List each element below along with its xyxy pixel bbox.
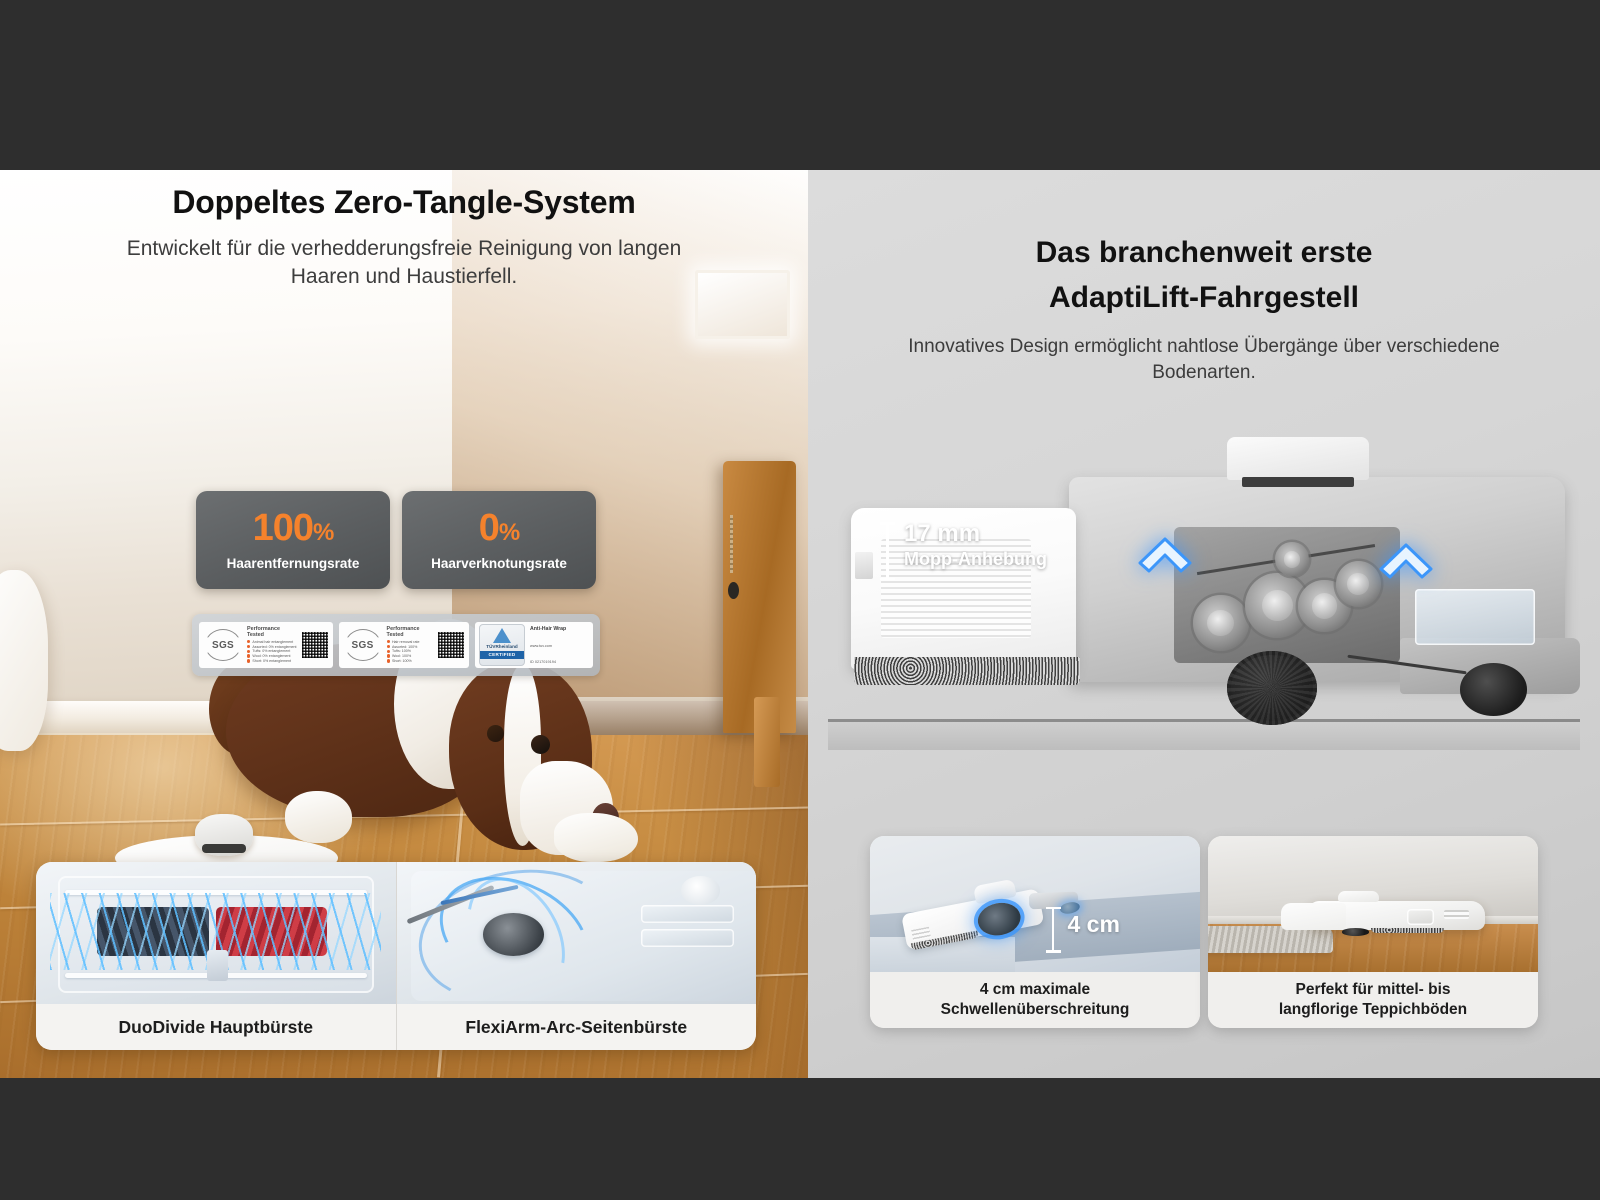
check-dot-icon bbox=[247, 640, 250, 643]
feature-card-threshold[interactable]: 4 cm 4 cm maximale Schwellenüberschreitu… bbox=[870, 836, 1200, 1028]
tuv-name: TÜVRheinland bbox=[486, 644, 517, 649]
sgs-logo-icon: SGS bbox=[204, 628, 242, 662]
robot-lidar-window bbox=[202, 844, 246, 852]
check-dot-icon bbox=[387, 659, 390, 662]
certification-badge-sgs-removal: SGS Performance Tested Hair removal rate… bbox=[339, 622, 469, 668]
sgs-list-item: Hair removal rate bbox=[387, 640, 433, 644]
stat-unit: % bbox=[313, 519, 333, 546]
certification-badge-tuv: TÜVRheinland CERTIFIED Anti-Hair Wrap ww… bbox=[475, 622, 593, 668]
sgs-item-text: Short: 100% bbox=[392, 659, 412, 663]
dog-eye bbox=[531, 735, 550, 754]
stat-value: 100% bbox=[253, 509, 334, 547]
sgs-item-text: Wool: 100% bbox=[392, 654, 411, 658]
robot-side-panel bbox=[1407, 909, 1434, 925]
side-brush-hub bbox=[483, 913, 544, 956]
sgs-item-text: Animal hair entanglement bbox=[252, 640, 293, 644]
certification-badge-sgs-entanglement: SGS Performance Tested Animal hair entan… bbox=[199, 622, 333, 668]
stat-label: Haarverknotungsrate bbox=[431, 556, 567, 571]
brush-center-divider bbox=[207, 950, 229, 981]
stat-value: 0% bbox=[479, 509, 519, 547]
sgs-list-item: Wool: 0% entanglement bbox=[247, 654, 297, 658]
caption-line-2: langflorige Teppichböden bbox=[1279, 1000, 1467, 1020]
sgs-logo-text: SGS bbox=[212, 640, 234, 651]
chassis-port bbox=[681, 876, 721, 904]
robot-lidar-turret bbox=[1338, 891, 1379, 902]
sgs-list-item: Assorted: 100% bbox=[387, 645, 433, 649]
tuv-url: www.tuv.com bbox=[530, 644, 589, 648]
chassis-slot bbox=[641, 929, 734, 947]
stat-number: 100 bbox=[253, 507, 313, 549]
mop-lift-value: 17 mm bbox=[904, 520, 980, 548]
hero-floor-surface bbox=[828, 722, 1580, 750]
tuv-triangle-icon bbox=[493, 628, 511, 643]
sgs-list-item: Tufts: 0% entanglement bbox=[247, 649, 297, 653]
sgs-item-text: Short: 0% entanglement bbox=[252, 659, 291, 663]
sgs-item-text: Tufts: 100% bbox=[392, 649, 411, 653]
feature-card-caption: FlexiArm-Arc-Seitenbürste bbox=[397, 1004, 757, 1050]
gear-icon bbox=[1336, 561, 1381, 608]
feature-card-caption: 4 cm maximale Schwellenüberschreitung bbox=[870, 972, 1200, 1028]
hero-floor-line bbox=[828, 719, 1580, 722]
stat-badge-group: 100% Haarentfernungsrate 0% Haarverknotu… bbox=[196, 491, 596, 589]
left-heading: Doppeltes Zero-Tangle-System bbox=[0, 184, 808, 221]
sgs-details: Performance Tested Animal hair entanglem… bbox=[247, 626, 297, 663]
furniture-leg bbox=[754, 697, 780, 788]
main-brush-illustration bbox=[36, 862, 396, 1004]
mop-pad bbox=[854, 657, 1080, 685]
sgs-item-text: Assorted: 100% bbox=[392, 645, 417, 649]
robot-grille bbox=[1444, 910, 1469, 919]
lift-arrow-up-icon bbox=[1136, 533, 1194, 585]
sgs-title: Performance Tested bbox=[387, 626, 433, 638]
dog-eye bbox=[487, 725, 504, 742]
measure-bar bbox=[886, 522, 889, 580]
sgs-title: Performance Tested bbox=[247, 626, 297, 638]
check-dot-icon bbox=[247, 650, 250, 653]
tuv-id: ID 0217019194 bbox=[530, 660, 589, 664]
dog-paw bbox=[554, 813, 638, 863]
stat-label: Haarentfernungsrate bbox=[227, 556, 360, 571]
drive-wheel bbox=[1227, 651, 1317, 725]
chassis-cutaway-image bbox=[828, 440, 1580, 750]
check-dot-icon bbox=[387, 654, 390, 657]
certification-strip: SGS Performance Tested Animal hair entan… bbox=[192, 614, 600, 676]
mop-lift-label: Mopp-Anhebung bbox=[904, 549, 1047, 570]
feature-card-caption: DuoDivide Hauptbürste bbox=[36, 1004, 396, 1050]
qr-code-icon bbox=[302, 632, 328, 658]
tuv-status: CERTIFIED bbox=[480, 651, 524, 659]
check-dot-icon bbox=[387, 640, 390, 643]
tuv-details: Anti-Hair Wrap www.tuv.com ID 0217019194 bbox=[530, 626, 589, 664]
right-heading: Das branchenweit erste AdaptiLift-Fahrge… bbox=[808, 230, 1600, 320]
right-feature-panel: Das branchenweit erste AdaptiLift-Fahrge… bbox=[808, 170, 1600, 1078]
robot-brush bbox=[1371, 928, 1445, 932]
right-feature-card-group: 4 cm 4 cm maximale Schwellenüberschreitu… bbox=[870, 836, 1538, 1028]
left-subheading: Entwickelt für die verhedderungsfreie Re… bbox=[94, 235, 714, 290]
right-heading-line2: AdaptiLift-Fahrgestell bbox=[1049, 281, 1359, 314]
right-text-block: Das branchenweit erste AdaptiLift-Fahrge… bbox=[808, 230, 1600, 386]
sgs-list-item: Assorted: 0% entanglement bbox=[247, 645, 297, 649]
sgs-details: Performance Tested Hair removal rate Ass… bbox=[387, 626, 433, 663]
tank-latch bbox=[855, 552, 873, 580]
sgs-logo-text: SGS bbox=[352, 640, 374, 651]
right-heading-line1: Das branchenweit erste bbox=[1036, 236, 1373, 269]
stat-badge-hair-removal: 100% Haarentfernungsrate bbox=[196, 491, 390, 589]
left-text-block: Doppeltes Zero-Tangle-System Entwickelt … bbox=[0, 170, 808, 290]
lift-arrow-up-icon bbox=[1377, 539, 1435, 591]
sgs-list-item: Wool: 100% bbox=[387, 654, 433, 658]
lidar-dome bbox=[1227, 437, 1370, 480]
sgs-list-item: Short: 0% entanglement bbox=[247, 659, 297, 663]
check-dot-icon bbox=[387, 645, 390, 648]
stat-badge-hair-tangle: 0% Haarverknotungsrate bbox=[402, 491, 596, 589]
gear-icon bbox=[1193, 595, 1249, 651]
check-dot-icon bbox=[387, 650, 390, 653]
tuv-claim: Anti-Hair Wrap bbox=[530, 626, 589, 632]
stat-number: 0 bbox=[479, 507, 499, 549]
sgs-list-item: Tufts: 100% bbox=[387, 649, 433, 653]
pull-chain bbox=[730, 515, 733, 573]
carpet-illustration bbox=[1208, 836, 1538, 972]
caption-line-1: 4 cm maximale bbox=[980, 980, 1090, 1000]
feature-card-side-brush[interactable]: FlexiArm-Arc-Seitenbürste bbox=[396, 862, 757, 1050]
robot-tank bbox=[1281, 903, 1346, 930]
robot-on-carpet bbox=[1281, 896, 1486, 937]
caption-line-2: Schwellenüberschreitung bbox=[941, 1000, 1130, 1020]
poster-canvas: Doppeltes Zero-Tangle-System Entwickelt … bbox=[0, 0, 1600, 1200]
stat-unit: % bbox=[499, 519, 519, 546]
left-feature-card-group: DuoDivide Hauptbürste bbox=[36, 862, 756, 1050]
caption-line-1: Perfekt für mittel- bis bbox=[1295, 980, 1450, 1000]
rear-wheel bbox=[1460, 663, 1528, 716]
sgs-list-item: Short: 100% bbox=[387, 659, 433, 663]
transparent-module bbox=[1415, 589, 1535, 645]
right-subheading: Innovatives Design ermöglicht nahtlose Ü… bbox=[894, 334, 1514, 386]
sgs-list-item: Animal hair entanglement bbox=[247, 640, 297, 644]
check-dot-icon bbox=[247, 645, 250, 648]
sgs-item-text: Assorted: 0% entanglement bbox=[252, 645, 296, 649]
measure-cap-bottom bbox=[880, 578, 895, 581]
check-dot-icon bbox=[247, 654, 250, 657]
measure-cap-bottom bbox=[1046, 950, 1061, 953]
feature-card-caption: Perfekt für mittel- bis langflorige Tepp… bbox=[1208, 972, 1538, 1028]
side-brush-illustration bbox=[397, 862, 757, 1004]
lidar-window bbox=[1242, 477, 1355, 487]
threshold-illustration: 4 cm bbox=[870, 836, 1200, 972]
measure-bar bbox=[1052, 907, 1055, 953]
sgs-item-text: Hair removal rate bbox=[392, 640, 420, 644]
threshold-value: 4 cm bbox=[1068, 911, 1120, 938]
robot-wheel bbox=[1342, 928, 1369, 935]
sgs-item-text: Wool: 0% entanglement bbox=[252, 654, 290, 658]
sgs-logo-icon: SGS bbox=[344, 628, 382, 662]
check-dot-icon bbox=[247, 659, 250, 662]
feature-card-main-brush[interactable]: DuoDivide Hauptbürste bbox=[36, 862, 396, 1050]
tuv-seal-icon: TÜVRheinland CERTIFIED bbox=[479, 624, 525, 666]
chassis-slot bbox=[641, 905, 734, 923]
sgs-item-text: Tufts: 0% entanglement bbox=[252, 649, 290, 653]
feature-card-carpet[interactable]: Perfekt für mittel- bis langflorige Tepp… bbox=[1208, 836, 1538, 1028]
left-feature-panel: Doppeltes Zero-Tangle-System Entwickelt … bbox=[0, 170, 808, 1078]
poster-content: Doppeltes Zero-Tangle-System Entwickelt … bbox=[0, 170, 1600, 1078]
qr-code-icon bbox=[438, 632, 464, 658]
